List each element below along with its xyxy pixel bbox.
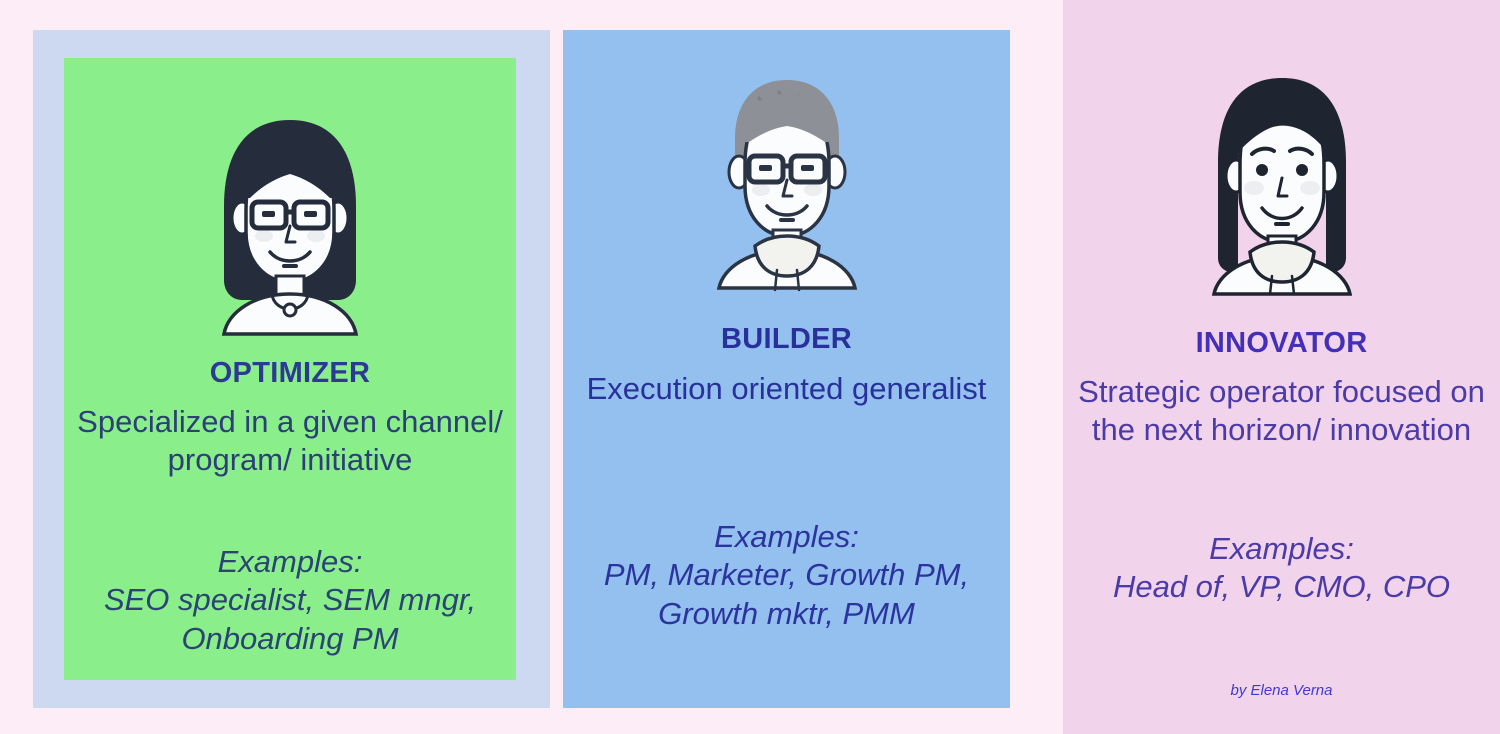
- examples-innovator: Examples: Head of, VP, CMO, CPO: [1063, 530, 1500, 607]
- innovator-title-wrap: INNOVATOR: [1063, 328, 1500, 360]
- avatar-innovator-wrap: [1063, 72, 1500, 296]
- role-title-optimizer: OPTIMIZER: [64, 358, 516, 390]
- avatar-builder-wrap: [563, 68, 1010, 292]
- examples-optimizer: Examples: SEO specialist, SEM mngr, Onbo…: [64, 543, 516, 658]
- role-title-builder: BUILDER: [563, 324, 1010, 356]
- role-title-innovator: INNOVATOR: [1063, 328, 1500, 360]
- examples-list-builder: PM, Marketer, Growth PM, Growth mktr, PM…: [563, 556, 1010, 633]
- innovator-desc-wrap: Strategic operator focused on the next h…: [1063, 373, 1500, 450]
- avatar-woman-glasses-necklace-icon: [202, 114, 378, 338]
- role-description-optimizer: Specialized in a given channel/ program/…: [64, 403, 516, 480]
- author-credit: by Elena Verna: [1063, 682, 1500, 699]
- avatar-optimizer-wrap: [64, 114, 516, 338]
- builder-desc-wrap: Execution oriented generalist: [563, 370, 1010, 408]
- avatar-woman-long-hair-hoodie-icon: [1194, 72, 1370, 296]
- role-description-innovator: Strategic operator focused on the next h…: [1063, 373, 1500, 450]
- examples-builder: Examples: PM, Marketer, Growth PM, Growt…: [563, 518, 1010, 633]
- optimizer-examples-wrap: Examples: SEO specialist, SEM mngr, Onbo…: [64, 543, 516, 658]
- examples-list-innovator: Head of, VP, CMO, CPO: [1063, 568, 1500, 606]
- panel-builder: BUILDER Execution oriented generalist Ex…: [563, 30, 1010, 708]
- optimizer-title-wrap: OPTIMIZER: [64, 358, 516, 390]
- optimizer-desc-wrap: Specialized in a given channel/ program/…: [64, 403, 516, 480]
- innovator-examples-wrap: Examples: Head of, VP, CMO, CPO: [1063, 530, 1500, 607]
- examples-label-builder: Examples:: [563, 518, 1010, 556]
- examples-label-optimizer: Examples:: [64, 543, 516, 581]
- slide-canvas: OPTIMIZER Specialized in a given channel…: [0, 0, 1500, 734]
- card-optimizer: OPTIMIZER Specialized in a given channel…: [64, 58, 516, 680]
- panel-optimizer: OPTIMIZER Specialized in a given channel…: [33, 30, 550, 708]
- panel-innovator: INNOVATOR Strategic operator focused on …: [1063, 0, 1500, 734]
- role-description-builder: Execution oriented generalist: [563, 370, 1010, 408]
- builder-examples-wrap: Examples: PM, Marketer, Growth PM, Growt…: [563, 518, 1010, 633]
- examples-list-optimizer: SEO specialist, SEM mngr, Onboarding PM: [64, 581, 516, 658]
- examples-label-innovator: Examples:: [1063, 530, 1500, 568]
- avatar-man-glasses-hoodie-icon: [699, 68, 875, 292]
- builder-title-wrap: BUILDER: [563, 324, 1010, 356]
